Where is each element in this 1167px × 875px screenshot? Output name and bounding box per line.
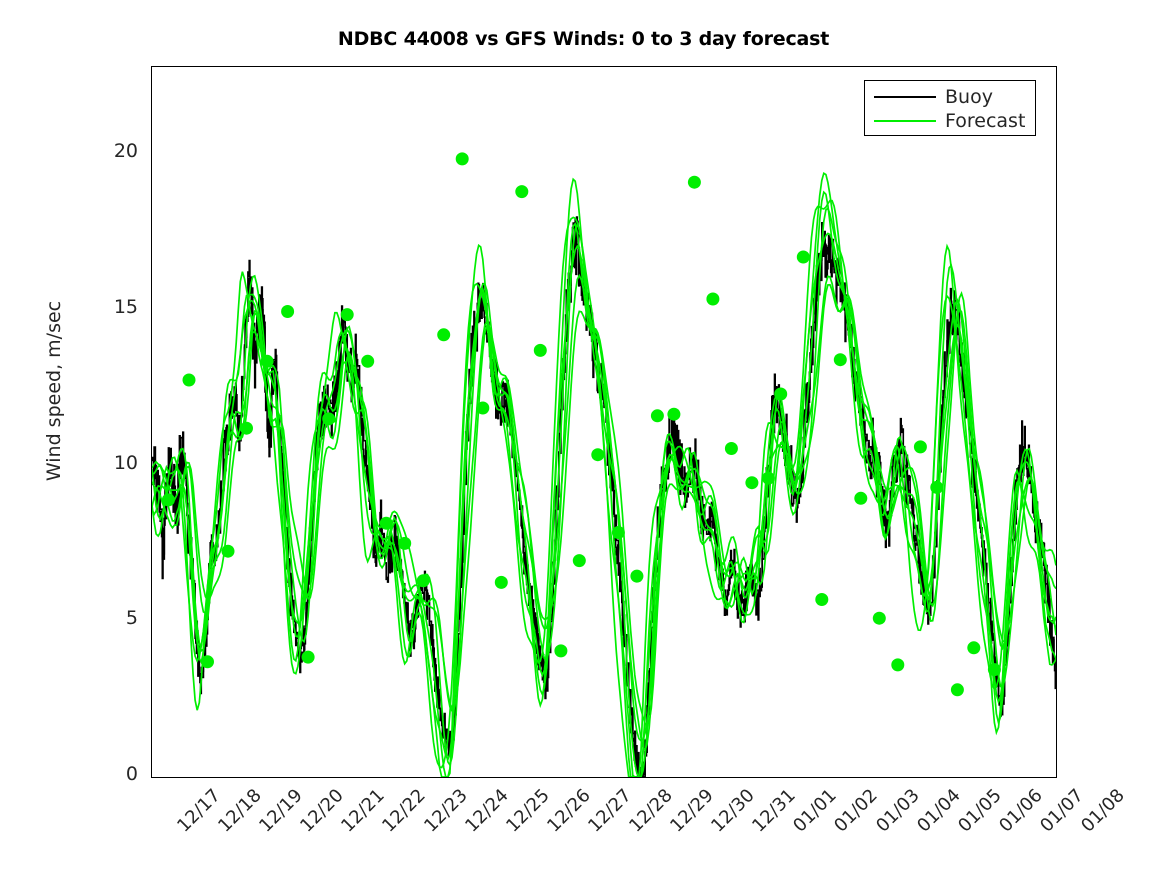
chart-figure: NDBC 44008 vs GFS Winds: 0 to 3 day fore… — [0, 0, 1167, 875]
x-tick-label: 01/07 — [1036, 785, 1088, 837]
forecast-marker-point — [240, 422, 253, 435]
x-tick-label: 01/04 — [913, 785, 965, 837]
y-tick-label: 20 — [78, 142, 138, 161]
forecast-marker-point — [183, 374, 196, 387]
x-tick-label: 01/08 — [1077, 785, 1129, 837]
forecast-marker-point — [591, 448, 604, 461]
forecast-marker-point — [573, 554, 586, 567]
forecast-marker-point — [914, 440, 927, 453]
y-tick-label: 0 — [78, 765, 138, 784]
forecast-marker-point — [261, 355, 274, 368]
x-tick-label: 12/17 — [173, 785, 225, 837]
forecast-trace — [152, 192, 1056, 777]
legend-swatch-forecast — [874, 120, 936, 122]
forecast-marker-point — [891, 658, 904, 671]
x-tick-label: 12/20 — [296, 785, 348, 837]
forecast-marker-point — [612, 526, 625, 539]
x-tick-label: 01/06 — [995, 785, 1047, 837]
legend-label-buoy: Buoy — [945, 86, 993, 108]
forecast-marker-point — [201, 655, 214, 668]
x-tick-label: 01/05 — [954, 785, 1006, 837]
forecast-marker-point — [380, 517, 393, 530]
forecast-marker-point — [967, 641, 980, 654]
forecast-marker-point — [417, 574, 430, 587]
forecast-marker-point — [630, 570, 643, 583]
y-axis-tick-labels: 05101520 — [78, 0, 138, 875]
forecast-marker-point — [361, 355, 374, 368]
legend-entry-buoy: Buoy — [865, 85, 1037, 109]
forecast-marker-point — [797, 251, 810, 264]
y-tick-label: 15 — [78, 298, 138, 317]
forecast-marker-point — [456, 152, 469, 165]
chart-title: NDBC 44008 vs GFS Winds: 0 to 3 day fore… — [0, 28, 1167, 50]
forecast-marker-point — [745, 476, 758, 489]
forecast-marker-point — [834, 353, 847, 366]
forecast-marker-point — [873, 612, 886, 625]
y-tick-label: 5 — [78, 609, 138, 628]
x-tick-label: 12/25 — [502, 785, 554, 837]
forecast-marker-point — [725, 442, 738, 455]
forecast-marker-point — [515, 185, 528, 198]
x-tick-label: 12/26 — [543, 785, 595, 837]
forecast-marker-point — [706, 293, 719, 306]
forecast-marker-point — [815, 593, 828, 606]
x-tick-label: 12/29 — [666, 785, 718, 837]
forecast-marker-point — [951, 683, 964, 696]
x-tick-label: 12/27 — [584, 785, 636, 837]
forecast-marker-point — [688, 176, 701, 189]
x-tick-label: 12/18 — [214, 785, 266, 837]
x-tick-label: 12/31 — [748, 785, 800, 837]
forecast-marker-point — [222, 545, 235, 558]
forecast-marker-point — [554, 644, 567, 657]
chart-legend: Buoy Forecast — [864, 80, 1036, 136]
forecast-marker-point — [341, 308, 354, 321]
forecast-marker-point — [495, 576, 508, 589]
forecast-trace — [152, 201, 1056, 778]
forecast-trace — [152, 208, 1056, 765]
legend-swatch-buoy — [874, 96, 936, 98]
x-tick-label: 12/28 — [625, 785, 677, 837]
forecast-marker-point — [774, 388, 787, 401]
forecast-marker-point — [437, 328, 450, 341]
x-tick-label: 12/24 — [461, 785, 513, 837]
legend-entry-forecast: Forecast — [865, 109, 1037, 133]
forecast-marker-point — [930, 481, 943, 494]
plot-area — [151, 66, 1057, 778]
forecast-marker-point — [988, 663, 1001, 676]
forecast-marker-point — [302, 651, 315, 664]
legend-label-forecast: Forecast — [945, 110, 1025, 132]
forecast-marker-point — [651, 409, 664, 422]
y-tick-label: 10 — [78, 454, 138, 473]
forecast-marker-point — [281, 305, 294, 318]
forecast-marker-point — [854, 492, 867, 505]
forecast-marker-point — [476, 402, 489, 415]
x-tick-label: 01/02 — [831, 785, 883, 837]
forecast-marker-point — [667, 408, 680, 421]
x-tick-label: 12/21 — [338, 785, 390, 837]
forecast-marker-point — [162, 493, 175, 506]
x-tick-label: 12/19 — [255, 785, 307, 837]
x-tick-label: 12/23 — [420, 785, 472, 837]
forecast-marker-point — [534, 344, 547, 357]
plot-canvas — [152, 67, 1056, 777]
x-tick-label: 12/22 — [379, 785, 431, 837]
x-tick-label: 01/01 — [790, 785, 842, 837]
forecast-marker-point — [398, 537, 411, 550]
x-tick-label: 12/30 — [707, 785, 759, 837]
forecast-marker-point — [762, 472, 775, 485]
forecast-marker-point — [322, 412, 335, 425]
x-tick-label: 01/03 — [872, 785, 924, 837]
y-axis-label: Wind speed, m/sec — [43, 111, 65, 671]
